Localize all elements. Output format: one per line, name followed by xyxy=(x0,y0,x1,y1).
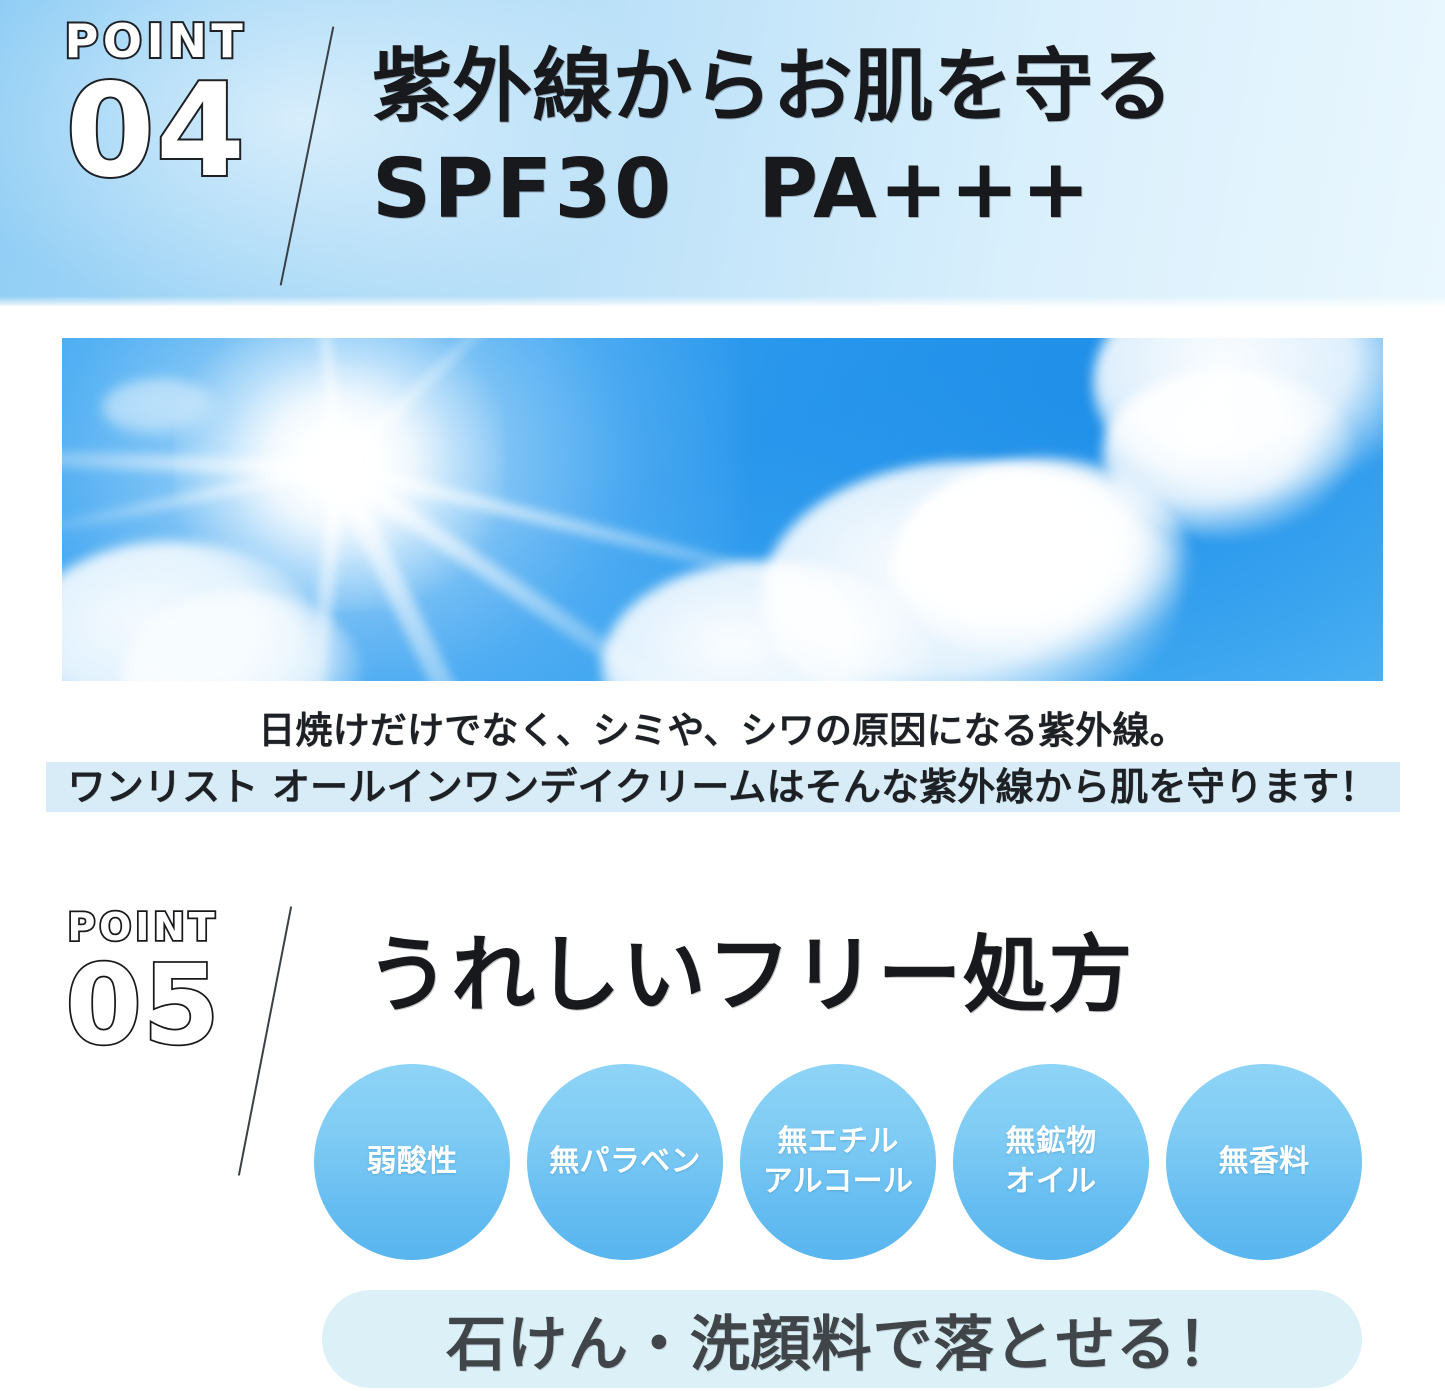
sky-photo xyxy=(62,338,1383,681)
free-circle: 無エチルアルコール xyxy=(740,1064,936,1260)
free-circle: 無鉱物オイル xyxy=(953,1064,1149,1260)
point04-title-line2: SPF30 PA+++ xyxy=(372,142,1174,239)
free-circle: 弱酸性 xyxy=(314,1064,510,1260)
sun-icon xyxy=(174,338,504,611)
point04-title: 紫外線からお肌を守る SPF30 PA+++ xyxy=(372,40,1174,239)
point04-header-band: POINT 04 紫外線からお肌を守る SPF30 PA+++ xyxy=(0,0,1445,306)
point04-badge: POINT 04 xyxy=(56,18,256,196)
point04-title-line1: 紫外線からお肌を守る xyxy=(372,40,1174,134)
point04-diagonal-divider xyxy=(280,26,335,285)
point05-badge-number: 05 xyxy=(58,950,228,1060)
cloud-bottom-right-2 xyxy=(892,471,1192,661)
caption-line-1: 日焼けだけでなく、シミや、シワの原因になる紫外線。 xyxy=(0,700,1445,754)
point05-badge: POINT 05 xyxy=(58,908,228,1060)
free-circle: 無パラベン xyxy=(527,1064,723,1260)
point05-heading: うれしいフリー処方 xyxy=(366,908,1133,1029)
caption-line-2: ワンリスト オールインワンデイクリームはそんな紫外線から肌を守ります！ xyxy=(0,756,1445,811)
washable-banner-text: 石けん・洗顔料で落とせる！ xyxy=(446,1296,1238,1383)
washable-banner: 石けん・洗顔料で落とせる！ xyxy=(322,1290,1362,1388)
point05-diagonal-divider xyxy=(238,906,292,1175)
free-circle: 無香料 xyxy=(1166,1064,1362,1260)
free-formula-circle-row: 弱酸性 無パラベン 無エチルアルコール 無鉱物オイル 無香料 xyxy=(314,1062,1364,1262)
point04-badge-number: 04 xyxy=(56,68,256,196)
